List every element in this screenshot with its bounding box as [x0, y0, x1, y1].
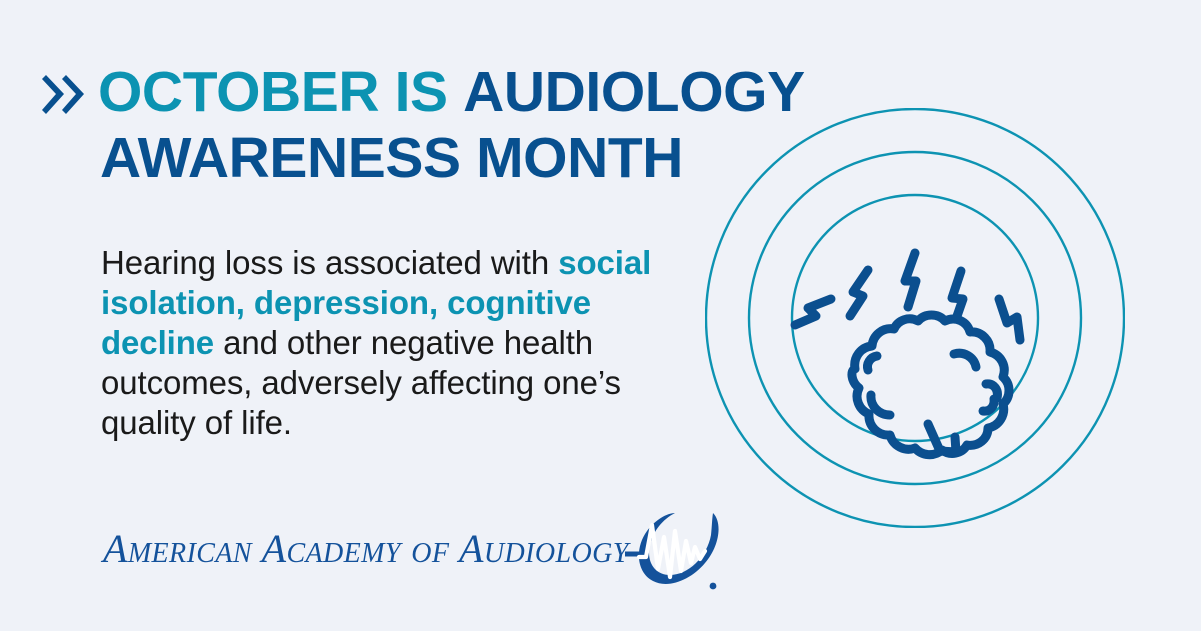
headline-line-1: OCTOBER IS AUDIOLOGY	[40, 62, 780, 128]
chevron-double-right-icon	[40, 68, 86, 128]
logo-lockup: American Academy of Audiology	[103, 505, 721, 593]
lightning-bolt-inner-right	[952, 271, 963, 319]
logo-wordmark: American Academy of Audiology	[103, 524, 629, 574]
brain-with-lightning-bolts-icon	[795, 253, 1020, 455]
lightning-bolt-outer-left	[795, 299, 831, 325]
lightning-bolt-inner-left	[850, 270, 868, 316]
poster-canvas: OCTOBER IS AUDIOLOGY AWARENESS MONTH Hea…	[0, 0, 1201, 631]
body-paragraph: Hearing loss is associated with social i…	[101, 243, 681, 443]
lightning-bolt-outer-right	[999, 299, 1020, 340]
body-text-part-1: Hearing loss is associated with	[101, 244, 558, 281]
headline-navy-text-1: AUDIOLOGY	[463, 60, 805, 124]
headline-teal-text: OCTOBER IS	[98, 60, 448, 124]
headline-line-2: AWARENESS MONTH	[40, 128, 780, 188]
audiology-crescent-waveform-icon	[625, 507, 721, 593]
lightning-bolt-center	[905, 253, 916, 307]
headline: OCTOBER IS AUDIOLOGY AWARENESS MONTH	[40, 62, 780, 188]
